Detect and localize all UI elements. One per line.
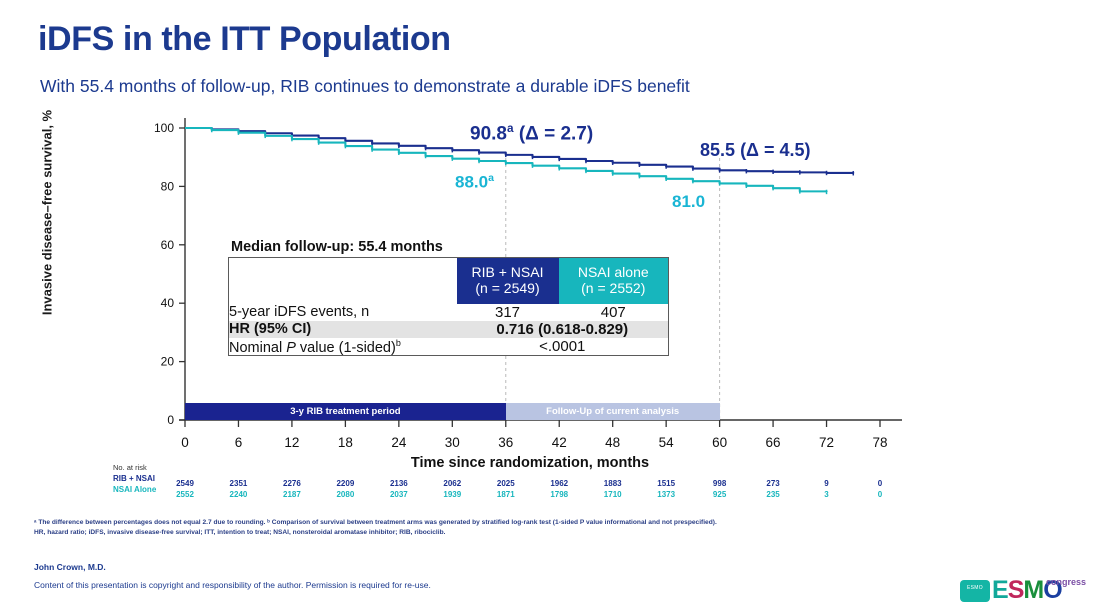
at-risk-row-label: RIB + NSAI	[113, 474, 169, 485]
svg-text:78: 78	[872, 435, 887, 450]
esmo-logo: ESMO ESMO congress	[960, 574, 1080, 608]
svg-text:30: 30	[445, 435, 460, 450]
table-header-nsai-line1: NSAI alone	[559, 265, 669, 281]
svg-text:72: 72	[819, 435, 834, 450]
svg-text:18: 18	[338, 435, 353, 450]
svg-text:24: 24	[391, 435, 407, 450]
treatment-period-bar: 3-y RIB treatment period	[185, 403, 506, 420]
svg-text:6: 6	[235, 435, 243, 450]
table-header-blank	[229, 258, 457, 304]
svg-text:36: 36	[498, 435, 513, 450]
row-label-pvalue-sup: b	[396, 338, 401, 348]
table-header-rib: RIB + NSAI (n = 2549)	[457, 258, 559, 304]
annotation-rib-36mo: 90.8a (Δ = 2.7)	[470, 122, 593, 145]
at-risk-block: No. at risk RIB + NSAI254923512276220921…	[113, 463, 169, 495]
esmo-badge-text: ESMO	[960, 585, 990, 591]
cell-pvalue: <.0001	[457, 338, 669, 356]
svg-text:0: 0	[167, 413, 174, 427]
annotation-rib-60mo-value: 85.5	[700, 140, 735, 160]
annotation-nsai-60mo: 81.0	[672, 192, 705, 212]
esmo-congress-label: congress	[1046, 577, 1086, 587]
at-risk-row: RIB + NSAI254923512276220921362062202519…	[113, 474, 169, 485]
annotation-nsai-36mo-sup: a	[488, 172, 494, 184]
results-table: RIB + NSAI (n = 2549) NSAI alone (n = 25…	[228, 257, 669, 356]
copyright-text: Content of this presentation is copyrigh…	[34, 580, 431, 590]
slide-root: iDFS in the ITT Population With 55.4 mon…	[0, 0, 1098, 616]
table-header-nsai-line2: (n = 2552)	[559, 281, 669, 297]
x-axis-label: Time since randomization, months	[330, 455, 730, 471]
svg-text:100: 100	[154, 121, 174, 135]
footnote-line-1: ᵃ The difference between percentages doe…	[34, 518, 1034, 528]
row-label-pvalue-pre: Nominal	[229, 339, 286, 355]
annotation-nsai-36mo-value: 88.0	[455, 173, 488, 192]
at-risk-title: No. at risk	[113, 463, 169, 472]
y-axis-label: Invasive disease–free survival, %	[40, 78, 55, 348]
row-label-pvalue: Nominal P value (1-sided)b	[229, 338, 457, 356]
annotation-rib-36mo-delta: (Δ = 2.7)	[519, 123, 593, 144]
table-header-nsai: NSAI alone (n = 2552)	[559, 258, 669, 304]
annotation-nsai-60mo-value: 81.0	[672, 192, 705, 211]
svg-text:12: 12	[284, 435, 299, 450]
table-header-rib-line2: (n = 2549)	[457, 281, 559, 297]
svg-text:60: 60	[712, 435, 727, 450]
footnote-line-2: HR, hazard ratio; iDFS, invasive disease…	[34, 528, 1034, 538]
svg-text:66: 66	[766, 435, 781, 450]
svg-text:42: 42	[552, 435, 567, 450]
median-followup-label: Median follow-up: 55.4 months	[231, 239, 443, 255]
table-row: HR (95% CI) 0.716 (0.618-0.829)	[229, 321, 669, 338]
table-header-row: RIB + NSAI (n = 2549) NSAI alone (n = 25…	[229, 258, 669, 304]
at-risk-table: RIB + NSAI254923512276220921362062202519…	[113, 474, 169, 495]
cell-events-rib: 317	[457, 304, 559, 321]
svg-text:40: 40	[161, 296, 175, 310]
svg-text:54: 54	[659, 435, 675, 450]
table-row: 5-year iDFS events, n 317 407	[229, 304, 669, 321]
row-label-events: 5-year iDFS events, n	[229, 304, 457, 321]
svg-text:48: 48	[605, 435, 620, 450]
svg-text:60: 60	[161, 238, 175, 252]
table-row: Nominal P value (1-sided)b <.0001	[229, 338, 669, 356]
annotation-rib-60mo-delta: (Δ = 4.5)	[740, 140, 810, 160]
esmo-badge-icon: ESMO	[960, 580, 990, 602]
row-label-pvalue-post: value (1-sided)	[296, 339, 396, 355]
author-name: John Crown, M.D.	[34, 562, 106, 572]
table-header-rib-line1: RIB + NSAI	[457, 265, 559, 281]
annotation-rib-36mo-sup: a	[507, 122, 514, 135]
cell-hr-value: 0.716 (0.618-0.829)	[457, 321, 669, 338]
annotation-nsai-36mo: 88.0a	[455, 172, 494, 193]
svg-text:0: 0	[181, 435, 189, 450]
row-label-hr: HR (95% CI)	[229, 321, 457, 338]
at-risk-row: NSAI Alone255222402187208020371939187117…	[113, 485, 169, 496]
annotation-rib-60mo: 85.5 (Δ = 4.5)	[700, 140, 811, 161]
svg-text:20: 20	[161, 355, 175, 369]
annotation-rib-36mo-value: 90.8	[470, 123, 507, 144]
svg-text:80: 80	[161, 179, 175, 193]
footnotes: ᵃ The difference between percentages doe…	[34, 518, 1034, 538]
row-label-pvalue-italic: P	[286, 339, 296, 355]
followup-period-bar: Follow-Up of current analysis	[506, 403, 720, 420]
at-risk-row-label: NSAI Alone	[113, 485, 169, 496]
cell-events-nsai: 407	[559, 304, 669, 321]
